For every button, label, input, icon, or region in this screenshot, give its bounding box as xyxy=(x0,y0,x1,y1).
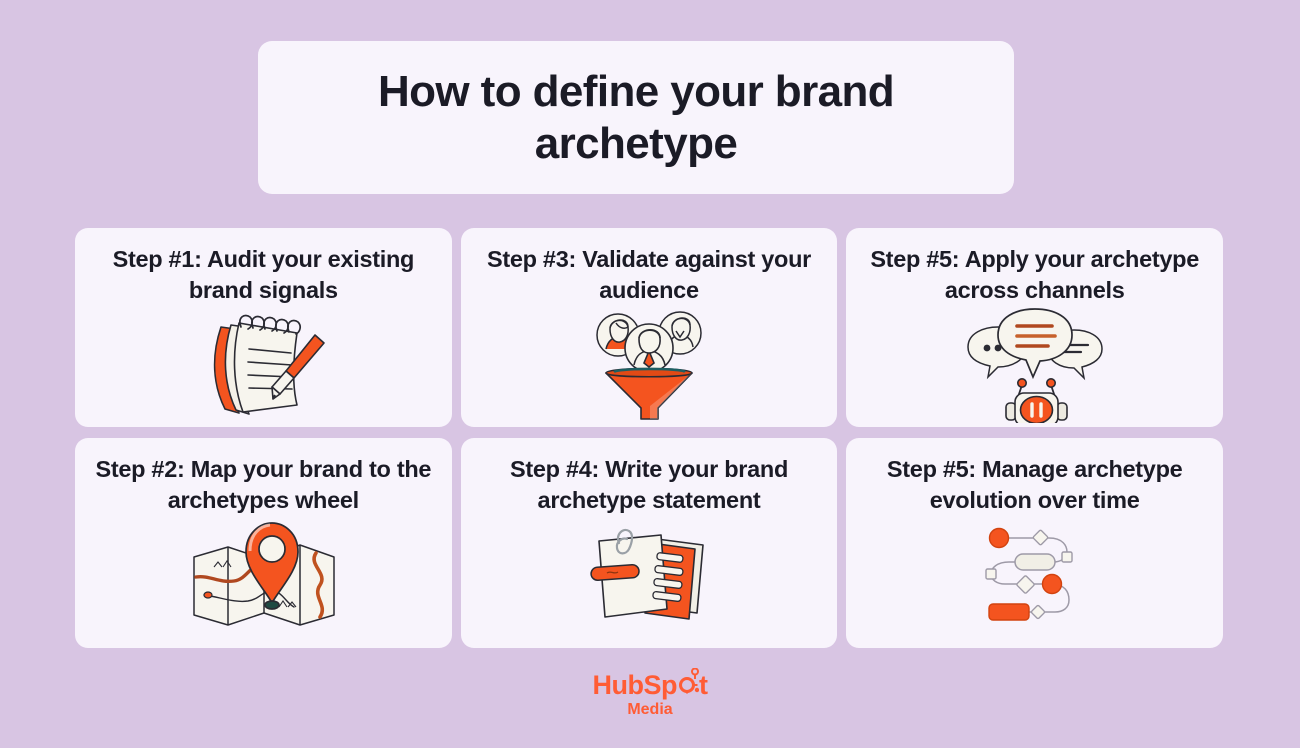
step-card-2: Step #2: Map your brand to the archetype… xyxy=(75,438,452,648)
step-card-5-evolution: Step #5: Manage archetype evolution over… xyxy=(846,438,1223,648)
chatbot-speech-bubbles-icon xyxy=(860,305,1209,423)
step-card-4: Step #4: Write your brand archetype stat… xyxy=(461,438,838,648)
map-pin-icon xyxy=(89,515,438,638)
step-card-3-title: Step #3: Validate against your audience xyxy=(475,244,824,305)
hubspot-wordmark-tail: t xyxy=(699,672,708,699)
step-card-2-title: Step #2: Map your brand to the archetype… xyxy=(89,454,438,515)
page-title: How to define your brand archetype xyxy=(298,66,974,170)
steps-grid: Step #1: Audit your existing brand signa… xyxy=(75,228,1223,648)
step-card-1-title: Step #1: Audit your existing brand signa… xyxy=(89,244,438,305)
hubspot-media-logo: HubSp t Media xyxy=(0,668,1300,718)
funnel-audience-icon xyxy=(475,305,824,423)
step-card-1: Step #1: Audit your existing brand signa… xyxy=(75,228,452,427)
hubspot-wordmark: HubSp t xyxy=(593,668,708,699)
notepad-pen-icon xyxy=(89,305,438,423)
step-card-5-channels: Step #5: Apply your archetype across cha… xyxy=(846,228,1223,427)
documents-paperclip-icon xyxy=(475,515,824,638)
title-card: How to define your brand archetype xyxy=(258,41,1014,194)
hubspot-wordmark-head: HubSp xyxy=(593,672,678,699)
flow-timeline-icon xyxy=(860,515,1209,638)
step-card-3: Step #3: Validate against your audience xyxy=(461,228,838,427)
step-card-5-channels-title: Step #5: Apply your archetype across cha… xyxy=(860,244,1209,305)
step-card-4-title: Step #4: Write your brand archetype stat… xyxy=(475,454,824,515)
hubspot-media-sublabel: Media xyxy=(627,702,672,718)
sprocket-icon xyxy=(677,668,699,694)
step-card-5-evolution-title: Step #5: Manage archetype evolution over… xyxy=(860,454,1209,515)
infographic-page: How to define your brand archetype Step … xyxy=(0,0,1300,748)
